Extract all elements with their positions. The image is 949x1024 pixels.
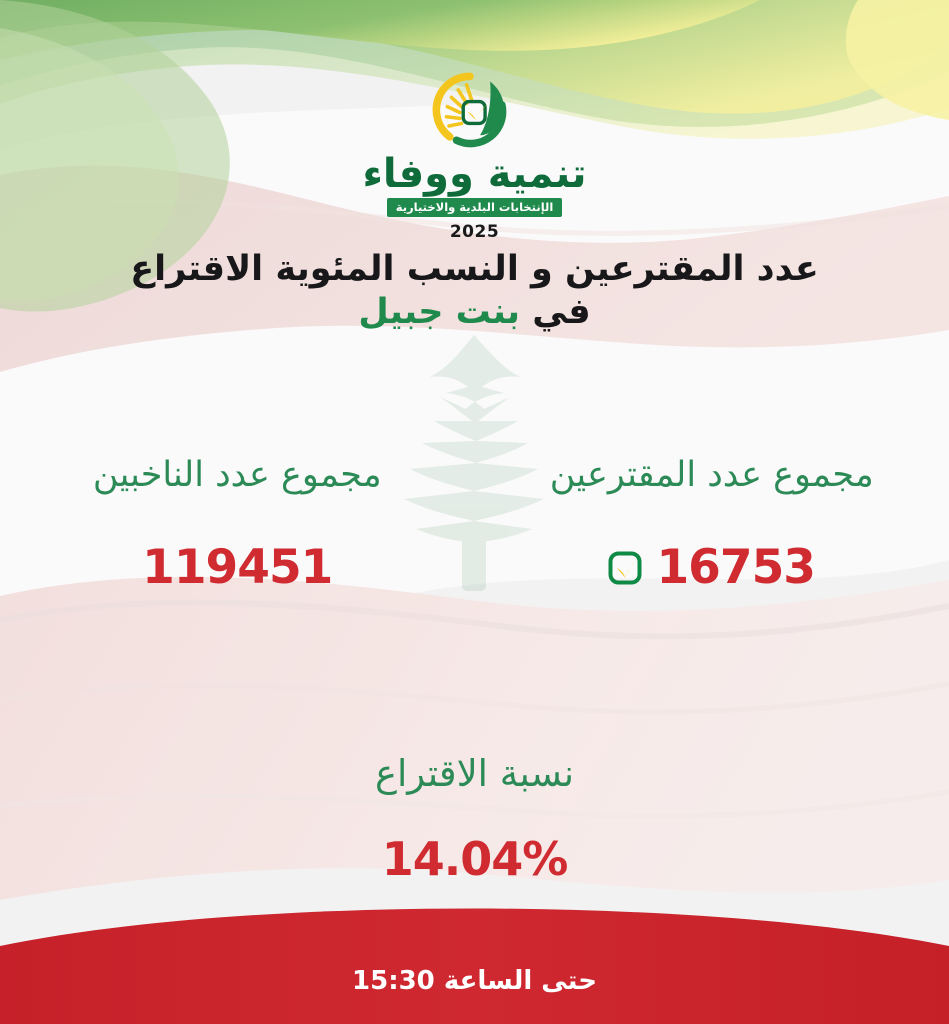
footer-banner-shape	[0, 884, 949, 1024]
turnout-block: نسبة الاقتراع 14.04%	[0, 752, 949, 886]
stats-row: مجموع عدد المقترعين 16753 مجموع عدد النا…	[0, 452, 949, 591]
logo-wordmark: تنمية ووفاء	[362, 154, 586, 194]
stat-card-ballots-cast: مجموع عدد المقترعين 16753	[475, 452, 949, 591]
page-title-line1: عدد المقترعين و النسب المئوية الاقتراع	[60, 248, 889, 291]
check-badge-icon	[608, 551, 642, 585]
turnout-value: 14.04%	[0, 832, 949, 886]
election-results-poster: تنمية ووفاء الإنتخابات البلدية والاختيار…	[0, 0, 949, 1024]
organization-logo: تنمية ووفاء الإنتخابات البلدية والاختيار…	[0, 68, 949, 242]
sunrise-leaf-ballot-logo-icon	[423, 68, 527, 152]
page-title-line2: في بنت جبيل	[60, 291, 889, 334]
logo-subtitle-bar: الإنتخابات البلدية والاختيارية	[387, 198, 563, 217]
stat-value-registered-voters: 119451	[142, 544, 332, 591]
footer-timestamp: حتى الساعة 15:30	[0, 966, 949, 996]
page-title-place: بنت جبيل	[358, 292, 520, 332]
logo-year: 2025	[450, 222, 499, 242]
stat-card-registered-voters: مجموع عدد الناخبين 119451	[0, 452, 475, 591]
stat-value-row-registered-voters: 119451	[0, 544, 475, 591]
turnout-label: نسبة الاقتراع	[0, 752, 949, 796]
stat-value-ballots-cast: 16753	[656, 544, 815, 591]
stat-label-ballots-cast: مجموع عدد المقترعين	[475, 452, 949, 498]
stat-value-row-ballots-cast: 16753	[475, 544, 949, 591]
page-title: عدد المقترعين و النسب المئوية الاقتراع ف…	[60, 248, 889, 333]
stat-label-registered-voters: مجموع عدد الناخبين	[0, 452, 475, 498]
page-title-preposition: في	[520, 292, 591, 332]
